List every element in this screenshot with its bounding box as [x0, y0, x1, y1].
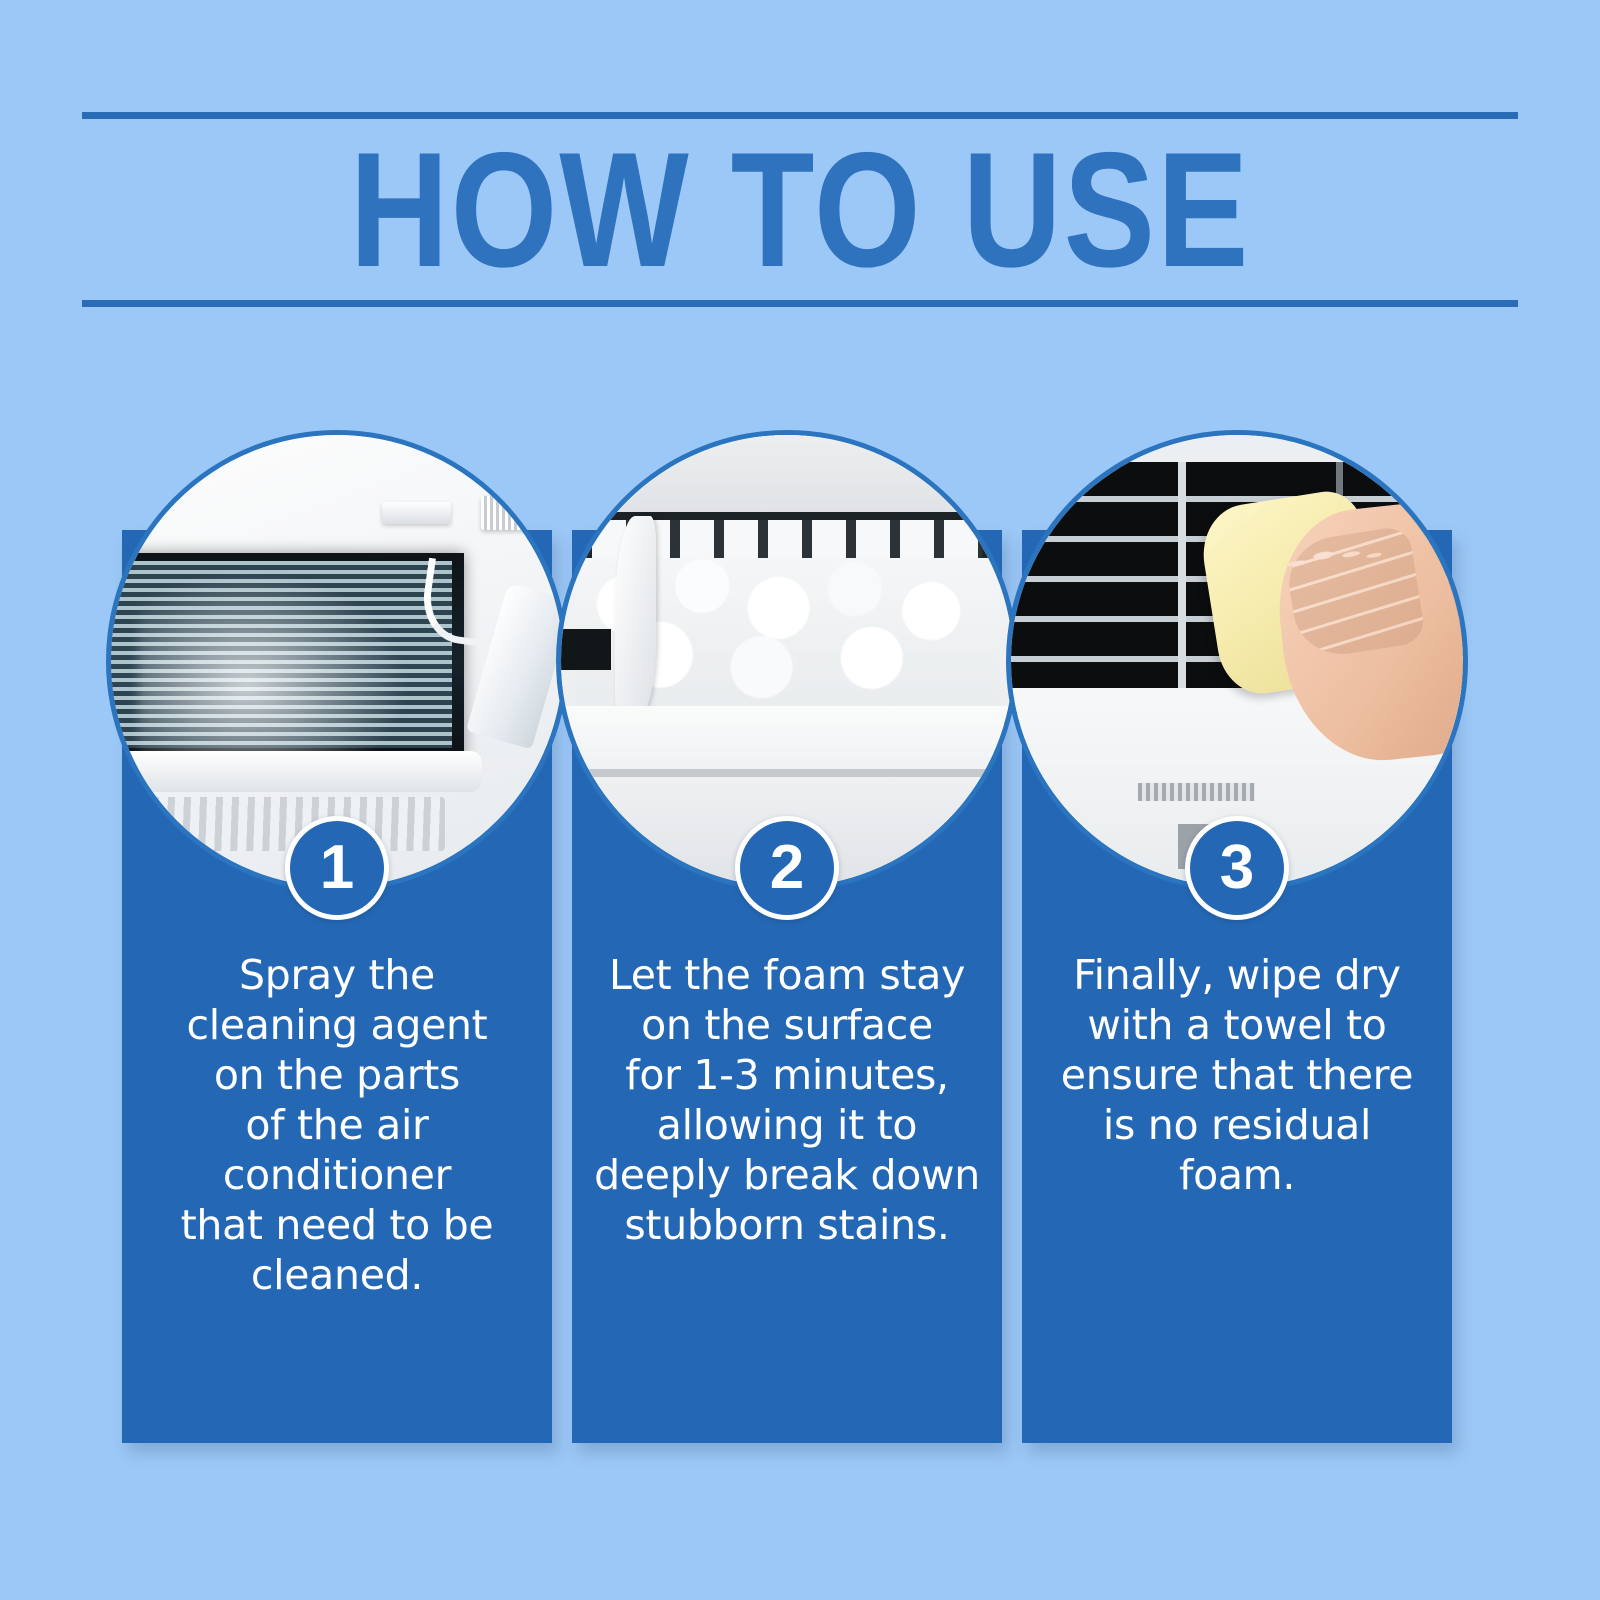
step-card-2: 2 Let the foam stay on the surface for 1… [572, 430, 1002, 1445]
step-caption-2: Let the foam stay on the surface for 1-3… [582, 950, 992, 1250]
steps-row: 1 Spray the cleaning agent on the parts … [0, 430, 1600, 1450]
ac-seam-lower [579, 769, 995, 776]
page-title: HOW TO USE [125, 109, 1475, 309]
header-divider-bottom [82, 300, 1518, 307]
step-card-3: 3 Finally, wipe dry with a towel to ensu… [1022, 430, 1452, 1445]
step-badge-1: 1 [285, 816, 389, 920]
ac-swing-vane [615, 516, 656, 715]
step-badge-2: 2 [735, 816, 839, 920]
spray-mist [138, 571, 409, 779]
step-caption-3: Finally, wipe dry with a towel to ensure… [1032, 950, 1442, 1200]
ac-front-lip [111, 751, 482, 792]
page-header: HOW TO USE [82, 112, 1518, 307]
ac-dark-slot [561, 629, 611, 670]
ac-vertical-strip [1178, 462, 1186, 688]
step-card-1: 1 Spray the cleaning agent on the parts … [122, 430, 552, 1445]
step-badge-3: 3 [1185, 816, 1289, 920]
ac-label-text [1138, 783, 1256, 801]
ac-louvers [120, 797, 445, 851]
step-caption-1: Spray the cleaning agent on the parts of… [132, 950, 542, 1300]
